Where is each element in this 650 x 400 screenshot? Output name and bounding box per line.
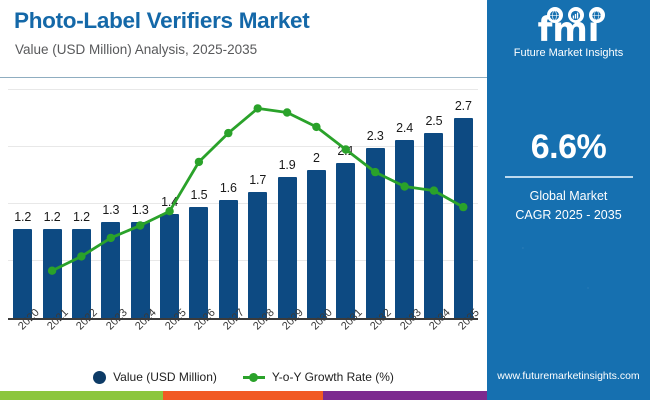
cagr-value: 6.6% (487, 128, 650, 167)
growth-rate-point[interactable] (107, 234, 115, 242)
growth-rate-point[interactable] (48, 267, 56, 275)
growth-rate-point[interactable] (283, 108, 291, 116)
brand-url: www.futuremarketinsights.com (487, 370, 650, 382)
growth-rate-point[interactable] (312, 123, 320, 131)
growth-rate-point[interactable] (224, 129, 232, 137)
growth-rate-polyline (52, 108, 463, 270)
legend-marker-circle-icon (93, 371, 106, 384)
cagr-caption-line2: CAGR 2025 - 2035 (487, 206, 650, 225)
plot-area: 1.21.21.21.31.31.41.51.61.71.922.12.32.4… (0, 84, 487, 320)
legend-item-growth[interactable]: Y-o-Y Growth Rate (%) (243, 370, 394, 384)
growth-rate-point[interactable] (195, 158, 203, 166)
growth-rate-point[interactable] (342, 145, 350, 153)
page-subtitle: Value (USD Million) Analysis, 2025-2035 (15, 42, 257, 57)
fmi-logo: fmi Future Market Insights (487, 7, 650, 85)
strip-segment-purple (323, 391, 487, 400)
growth-rate-point[interactable] (136, 221, 144, 229)
chart-icon (568, 7, 584, 23)
chart-panel: Photo-Label Verifiers Market Value (USD … (0, 0, 487, 400)
page-title: Photo-Label Verifiers Market (14, 8, 309, 34)
x-axis-labels: 2020202120222023202420252026202720282029… (0, 320, 487, 366)
header-divider (0, 77, 487, 78)
growth-rate-point[interactable] (400, 182, 408, 190)
globe-icon (547, 7, 563, 23)
cagr-block: 6.6% Global Market CAGR 2025 - 2035 (487, 128, 650, 225)
growth-rate-point[interactable] (430, 186, 438, 194)
growth-rate-point[interactable] (254, 104, 262, 112)
strip-segment-green (0, 391, 163, 400)
logo-icon-row (547, 7, 605, 23)
growth-rate-point[interactable] (165, 207, 173, 215)
growth-rate-point[interactable] (459, 203, 467, 211)
legend-label-value: Value (USD Million) (113, 370, 217, 384)
legend-marker-line-dot-icon (243, 371, 265, 384)
cagr-divider (505, 176, 633, 178)
cagr-caption-line1: Global Market (487, 187, 650, 206)
chart-legend: Value (USD Million) Y-o-Y Growth Rate (%… (0, 366, 487, 388)
legend-label-growth: Y-o-Y Growth Rate (%) (272, 370, 394, 384)
chart-header: Photo-Label Verifiers Market Value (USD … (0, 0, 487, 78)
globe-grid-icon (589, 7, 605, 23)
strip-segment-orange (163, 391, 323, 400)
bottom-color-strip (0, 391, 487, 400)
growth-rate-line (0, 84, 487, 320)
growth-rate-point[interactable] (371, 168, 379, 176)
brand-panel: fmi Future Market Insights 6.6% Global M… (487, 0, 650, 400)
growth-rate-point[interactable] (77, 252, 85, 260)
legend-item-value[interactable]: Value (USD Million) (93, 370, 217, 384)
